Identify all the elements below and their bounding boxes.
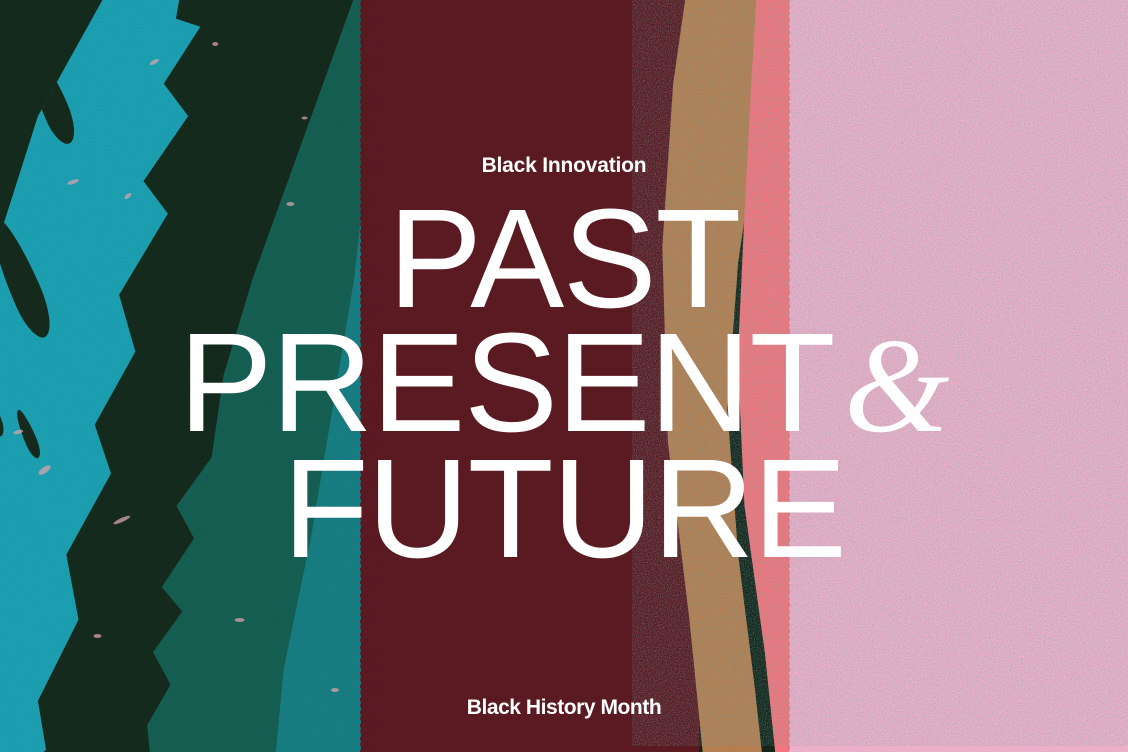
eyebrow-text: Black Innovation: [0, 155, 1128, 176]
poster-type-layer: Black Innovation PAST PRESENT& FUTURE Bl…: [0, 0, 1128, 752]
headline-line-future: FUTURE: [0, 446, 1128, 570]
ampersand-glyph: &: [834, 311, 949, 461]
poster-canvas: Black Innovation PAST PRESENT& FUTURE Bl…: [0, 0, 1128, 752]
headline-line-past: PAST: [0, 196, 1128, 320]
headline-line-present: PRESENT&: [0, 320, 1128, 446]
page-title: PAST PRESENT& FUTURE: [0, 196, 1128, 570]
footer-text: Black History Month: [0, 697, 1128, 718]
